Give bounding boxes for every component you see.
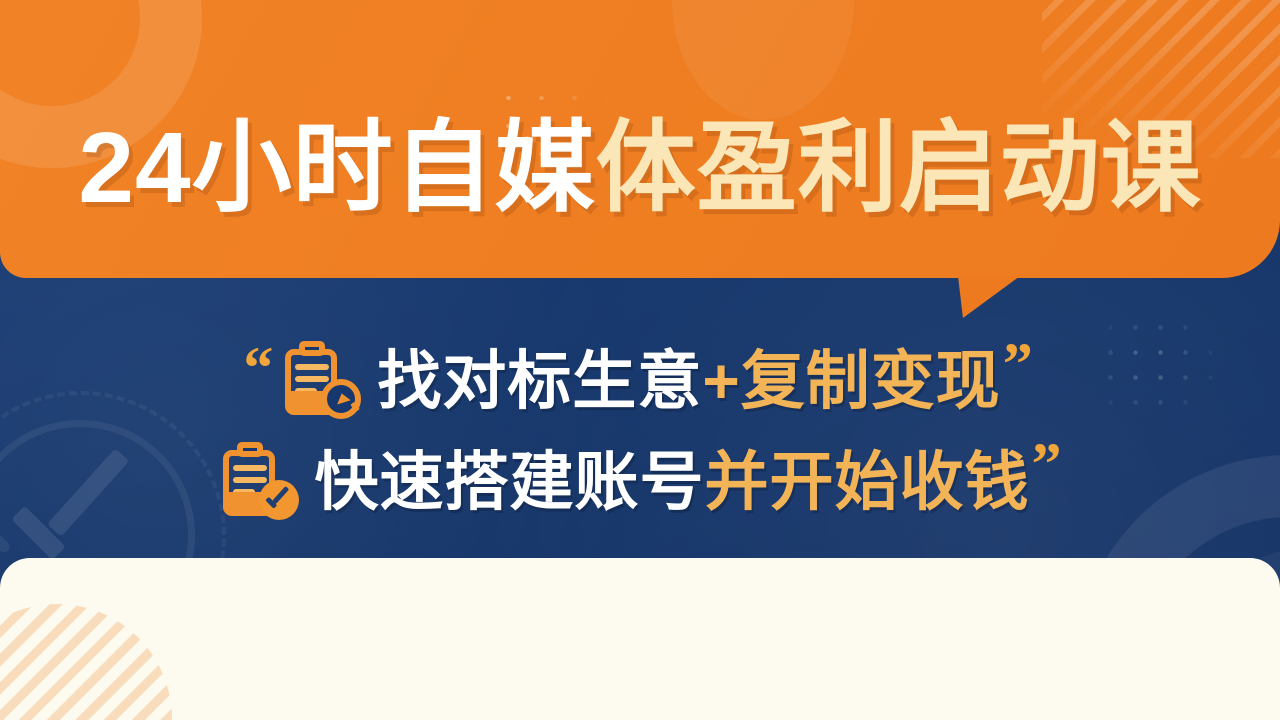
clipboard-check-icon [221, 442, 299, 522]
quote-open-icon: “ [243, 338, 273, 398]
quote-close-icon-2: ” [1032, 434, 1062, 494]
cursor-badge [321, 379, 361, 419]
highlight-1-text-white: 找对标生意 [377, 349, 702, 413]
highlight-line-2: 快速搭建账号 并开始收钱 ” [0, 432, 1280, 532]
check-badge [259, 480, 299, 520]
quote-close-icon-1: ” [1003, 334, 1033, 394]
title-segment-cream: 体盈利启动课 [596, 112, 1202, 224]
highlight-1-text-gold: +复制变现 [702, 349, 1000, 413]
page-title: 24小时自媒体盈利启动课 [0, 118, 1280, 218]
clipboard-search-icon [283, 341, 361, 421]
highlight-2-text-gold: 并开始收钱 [705, 450, 1030, 514]
highlight-list: “ 找对标生意 +复制变现 ” [0, 332, 1280, 532]
highlight-line-1: “ 找对标生意 +复制变现 ” [0, 332, 1280, 430]
promo-poster: 24小时自媒体盈利启动课 “ 找对标生意 +复制变现 ” [0, 0, 1280, 720]
striped-circle-decoration [0, 604, 172, 720]
highlight-2-text-white: 快速搭建账号 [315, 450, 705, 514]
banner-ellipse-decoration [672, 0, 854, 120]
title-segment-white: 24小时自媒 [78, 112, 595, 224]
bottom-content-card [0, 558, 1280, 720]
